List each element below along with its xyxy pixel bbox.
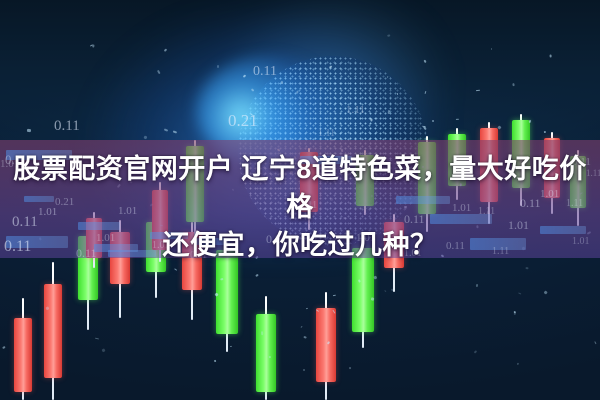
page-title: 股票配资官网开户 辽宁8道特色菜，量大好吃价格 还便宜，你吃过几种？ (0, 150, 600, 264)
headline-line-2: 还便宜，你吃过几种？ (0, 226, 600, 264)
headline-line-1: 股票配资官网开户 辽宁8道特色菜，量大好吃价格 (0, 150, 600, 226)
price-label: 1.11 (318, 128, 335, 139)
price-label: 0.11 (54, 118, 80, 135)
price-label: 0.21 (228, 111, 258, 131)
price-label: 1.11 (346, 104, 365, 116)
banner-image: 0.110.111.010.110.111.010.211.010.111.01… (0, 0, 600, 400)
price-label: 0.11 (253, 64, 277, 80)
